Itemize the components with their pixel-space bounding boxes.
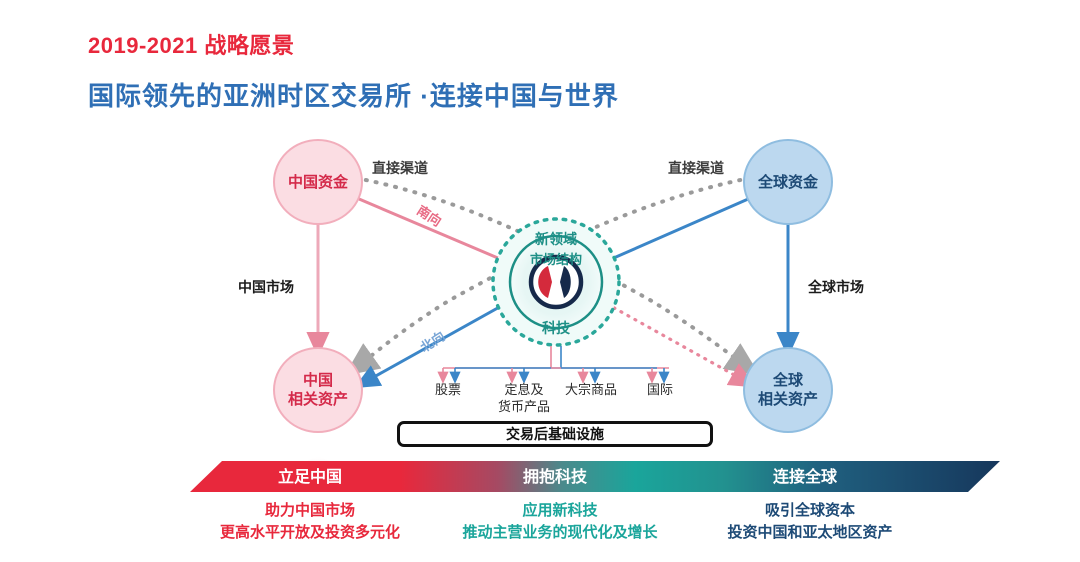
label-global-market: 全球市场 bbox=[808, 277, 864, 297]
product-label-0-line1: 股票 bbox=[408, 382, 488, 398]
label-direct-channel-left: 直接渠道 bbox=[372, 158, 428, 178]
banner-body-2-line1: 吸引全球资本 bbox=[680, 500, 940, 522]
hub-inner-top-label: 市场结构 bbox=[506, 249, 606, 268]
banner-title-1: 拥抱科技 bbox=[460, 463, 650, 487]
banner-body-0-line1: 助力中国市场 bbox=[180, 500, 440, 522]
hub-outer-ring-label: 新领域 bbox=[506, 229, 606, 249]
label-direct-channel-right: 直接渠道 bbox=[668, 158, 724, 178]
product-label-3-line1: 国际 bbox=[620, 382, 700, 398]
hub-inner-bottom-label: 科技 bbox=[506, 318, 606, 338]
banner-title-0: 立足中国 bbox=[215, 463, 405, 487]
banner-body-0-line2: 更高水平开放及投资多元化 bbox=[180, 522, 440, 544]
banner-body-1-line1: 应用新科技 bbox=[430, 500, 690, 522]
slide-canvas: 2019-2021 战略愿景 国际领先的亚洲时区交易所 ·连接中国与世界 bbox=[0, 0, 1080, 562]
banner-title-2: 连接全球 bbox=[710, 463, 900, 487]
product-label-1-line2: 货币产品 bbox=[478, 399, 570, 415]
banner-body-1-line2: 推动主营业务的现代化及增长 bbox=[430, 522, 690, 544]
label-china-market: 中国市场 bbox=[238, 277, 294, 297]
post-trade-infrastructure-box: 交易后基础设施 bbox=[397, 421, 713, 447]
banner-body-2-line2: 投资中国和亚太地区资产 bbox=[680, 522, 940, 544]
